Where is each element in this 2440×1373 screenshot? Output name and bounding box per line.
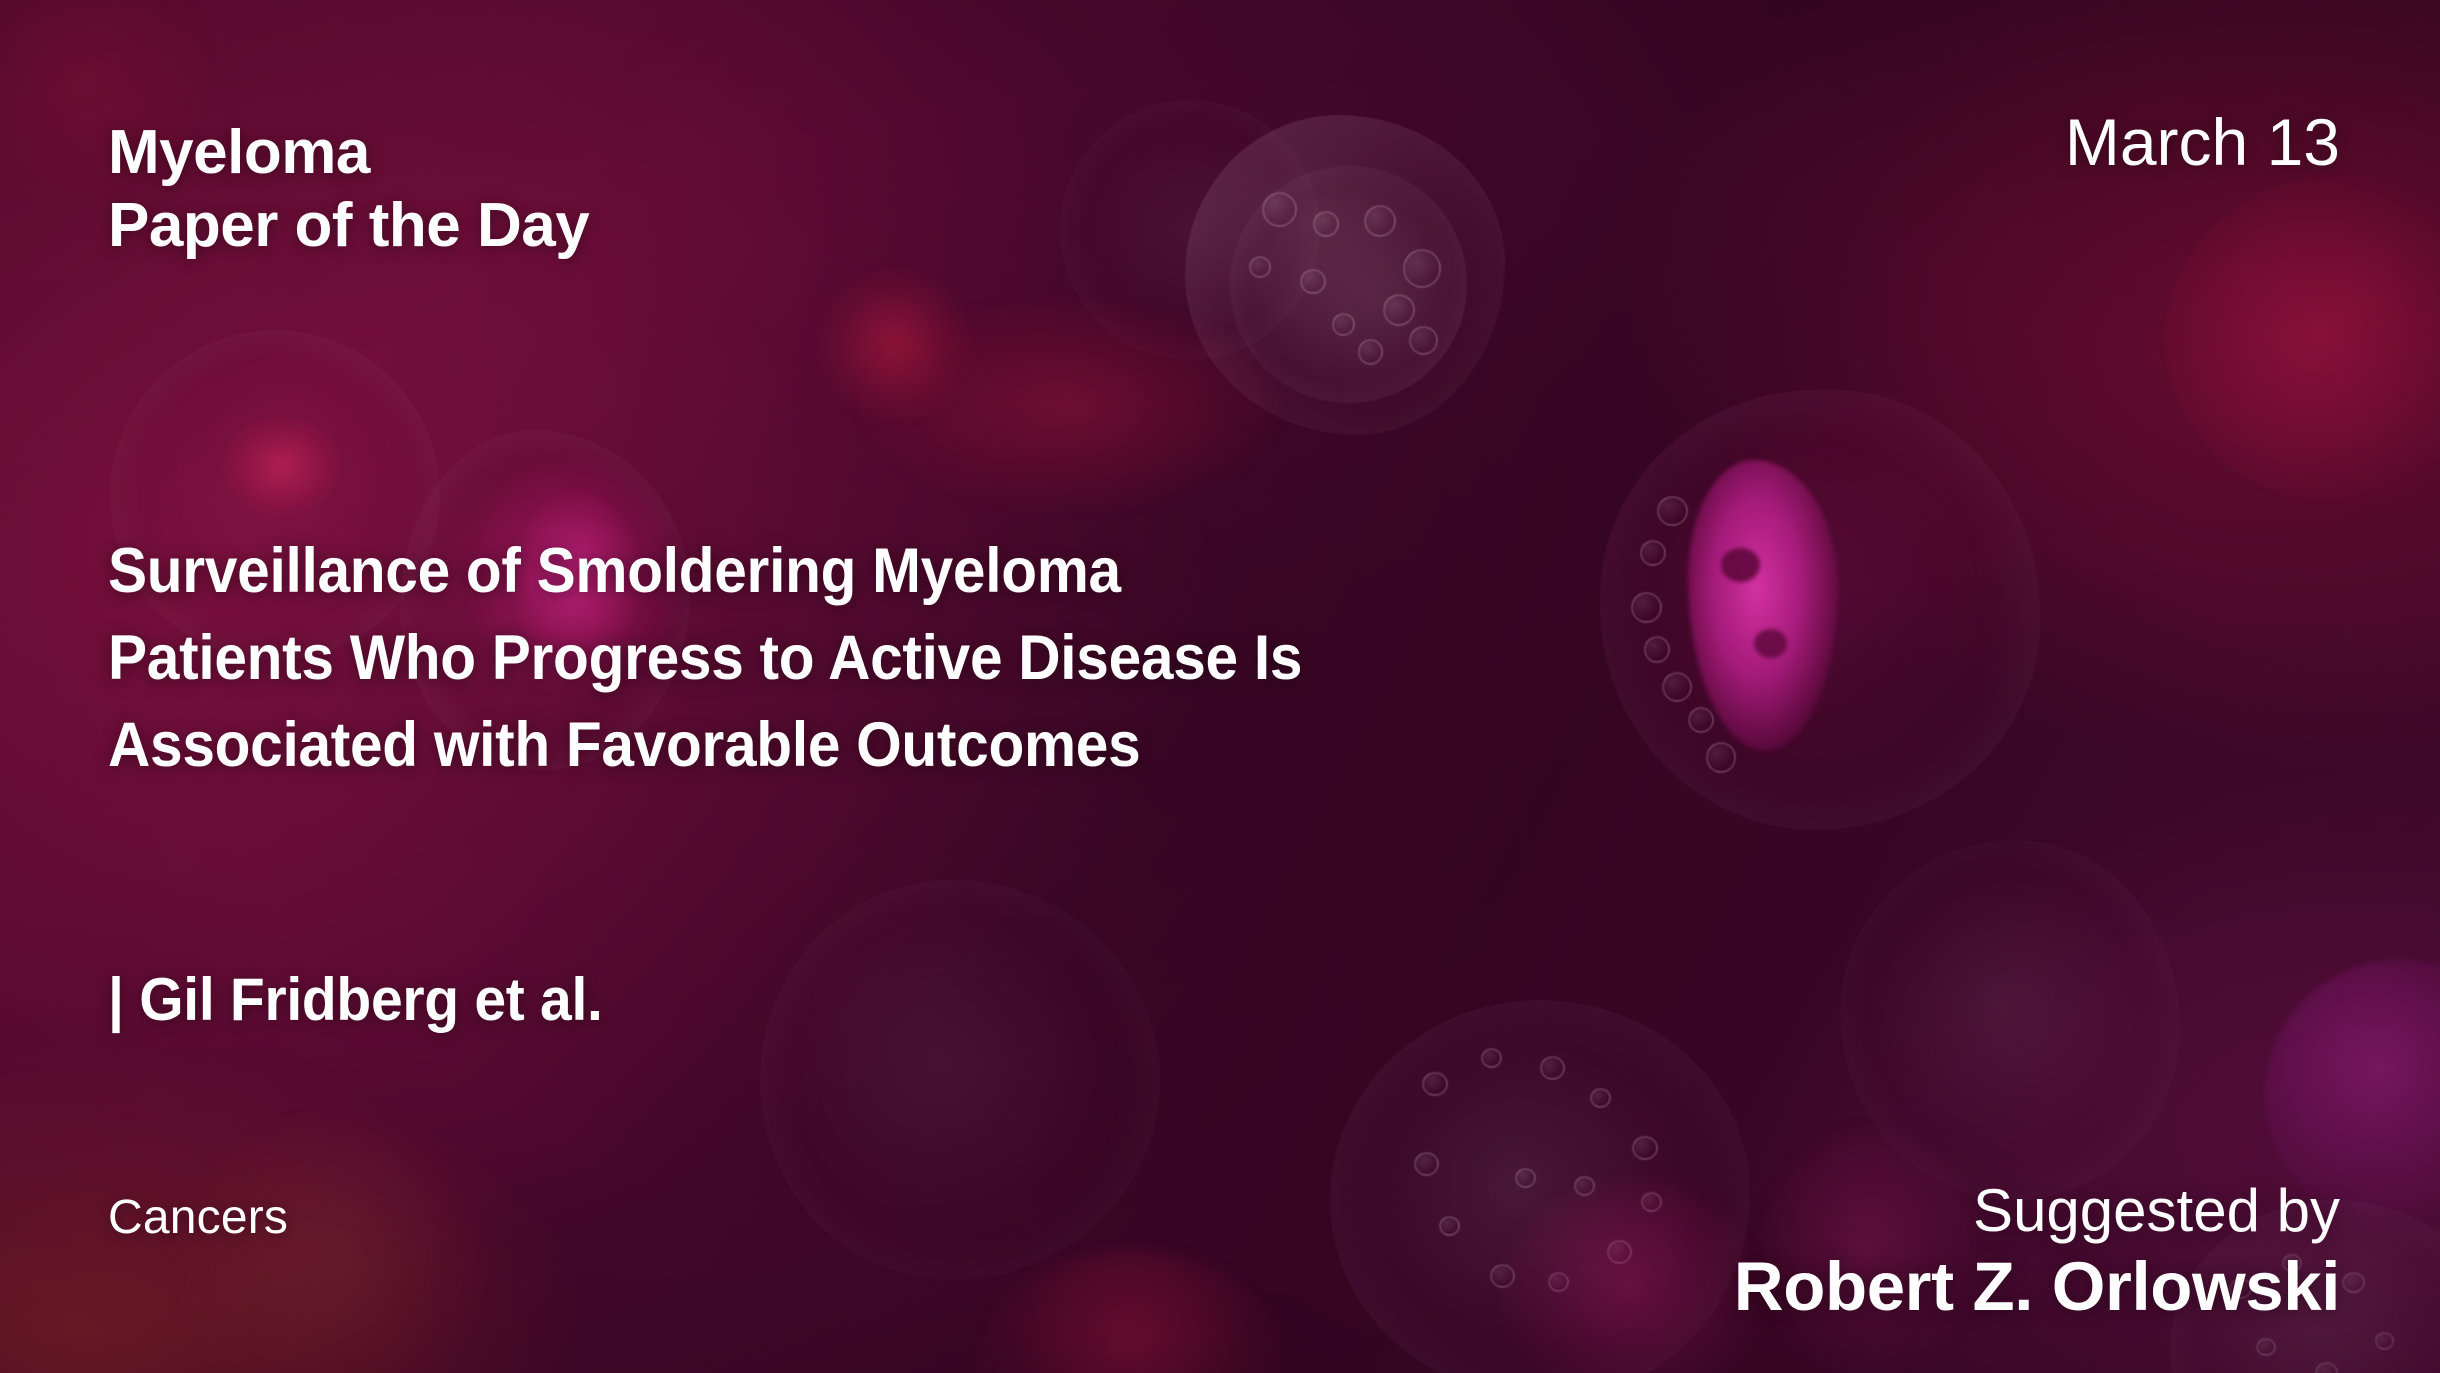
title-line-2: Patients Who Progress to Active Disease … [108, 627, 1615, 690]
date-label: March 13 [2065, 104, 2340, 180]
slide-content: Myeloma Paper of the Day March 13 Survei… [0, 0, 2440, 1373]
authors-label: | Gil Fridberg et al. [108, 965, 603, 1034]
series-kicker: Myeloma Paper of the Day [108, 116, 589, 262]
suggested-by-name: Robert Z. Orlowski [1734, 1248, 2340, 1325]
page-title: Surveillance of Smoldering Myeloma Patie… [108, 540, 1615, 801]
journal-label: Cancers [108, 1190, 288, 1245]
kicker-line-2: Paper of the Day [108, 189, 589, 262]
paper-of-the-day-slide: Myeloma Paper of the Day March 13 Survei… [0, 0, 2440, 1373]
attribution-block: Suggested by Robert Z. Orlowski [1734, 1177, 2340, 1325]
title-line-1: Surveillance of Smoldering Myeloma [108, 540, 1615, 603]
title-line-3: Associated with Favorable Outcomes [108, 714, 1615, 777]
suggested-by-label: Suggested by [1734, 1177, 2340, 1244]
kicker-line-1: Myeloma [108, 118, 370, 187]
